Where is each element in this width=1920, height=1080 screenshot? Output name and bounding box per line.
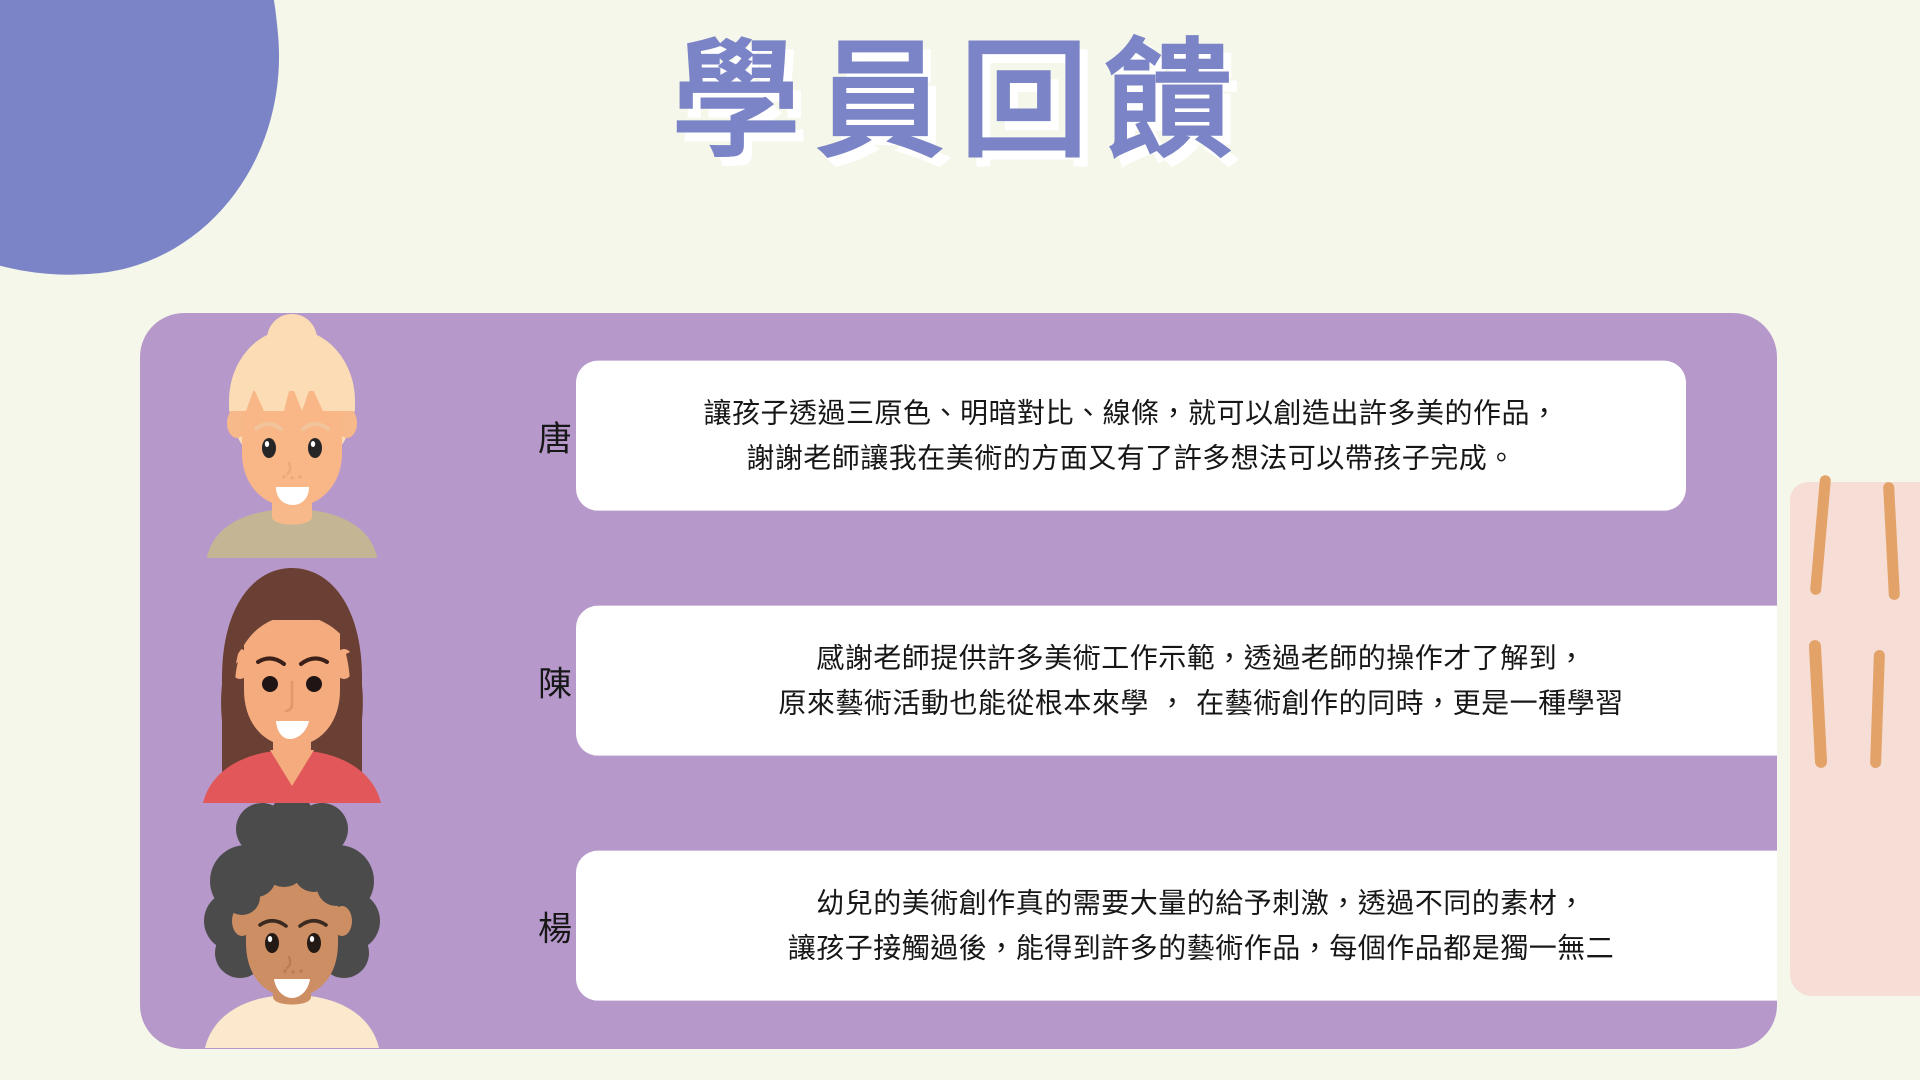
testimonial-line: 讓孩子透過三原色、明暗對比、線條，就可以創造出許多美的作品， — [602, 390, 1660, 435]
testimonial-bubble: 幼兒的美術創作真的需要大量的給予刺激，透過不同的素材， 讓孩子接觸過後，能得到許… — [576, 850, 1777, 1001]
avatar-curly-hair-woman — [188, 803, 396, 1048]
testimonial-bubble: 讓孩子透過三原色、明暗對比、線條，就可以創造出許多美的作品， 謝謝老師讓我在美術… — [576, 360, 1686, 511]
page-title: 學員回饋 — [672, 22, 1248, 182]
testimonial-row: 唐同學 讓孩子透過三原色、明暗對比、線條，就可以創造出許多美的作品， 謝謝老師讓… — [140, 313, 1777, 558]
testimonial-line: 讓孩子接觸過後，能得到許多的藝術作品，每個作品都是獨一無二 — [602, 926, 1777, 971]
page-title-container: 學員回饋 — [0, 22, 1920, 182]
testimonial-line: 感謝老師提供許多美術工作示範，透過老師的操作才了解到， — [602, 635, 1777, 680]
testimonial-bubble: 感謝老師提供許多美術工作示範，透過老師的操作才了解到， 原來藝術活動也能從根本來… — [576, 605, 1777, 756]
testimonial-line: 幼兒的美術創作真的需要大量的給予刺激，透過不同的素材， — [602, 880, 1777, 925]
testimonials-panel: 唐同學 讓孩子透過三原色、明暗對比、線條，就可以創造出許多美的作品， 謝謝老師讓… — [140, 313, 1777, 1049]
blue-blob-decoration — [0, 0, 301, 301]
avatar-blonde-bun-woman — [188, 313, 396, 558]
testimonial-line: 謝謝老師讓我在美術的方面又有了許多想法可以帶孩子完成。 — [602, 436, 1660, 481]
avatar-long-brown-hair-woman — [188, 558, 396, 803]
testimonial-line: 原來藝術活動也能從根本來學 ， 在藝術創作的同時，更是一種學習 — [602, 681, 1777, 726]
slide-canvas: 學員回饋 — [0, 0, 1920, 1080]
testimonial-row: 楊同學 幼兒的美術創作真的需要大量的給予刺激，透過不同的素材， 讓孩子接觸過後，… — [140, 803, 1777, 1048]
pink-panel-decoration — [1790, 482, 1920, 996]
testimonial-row: 陳同學 感謝老師提供許多美術工作示範，透過老師的操作才了解到， 原來藝術活動也能… — [140, 558, 1777, 803]
